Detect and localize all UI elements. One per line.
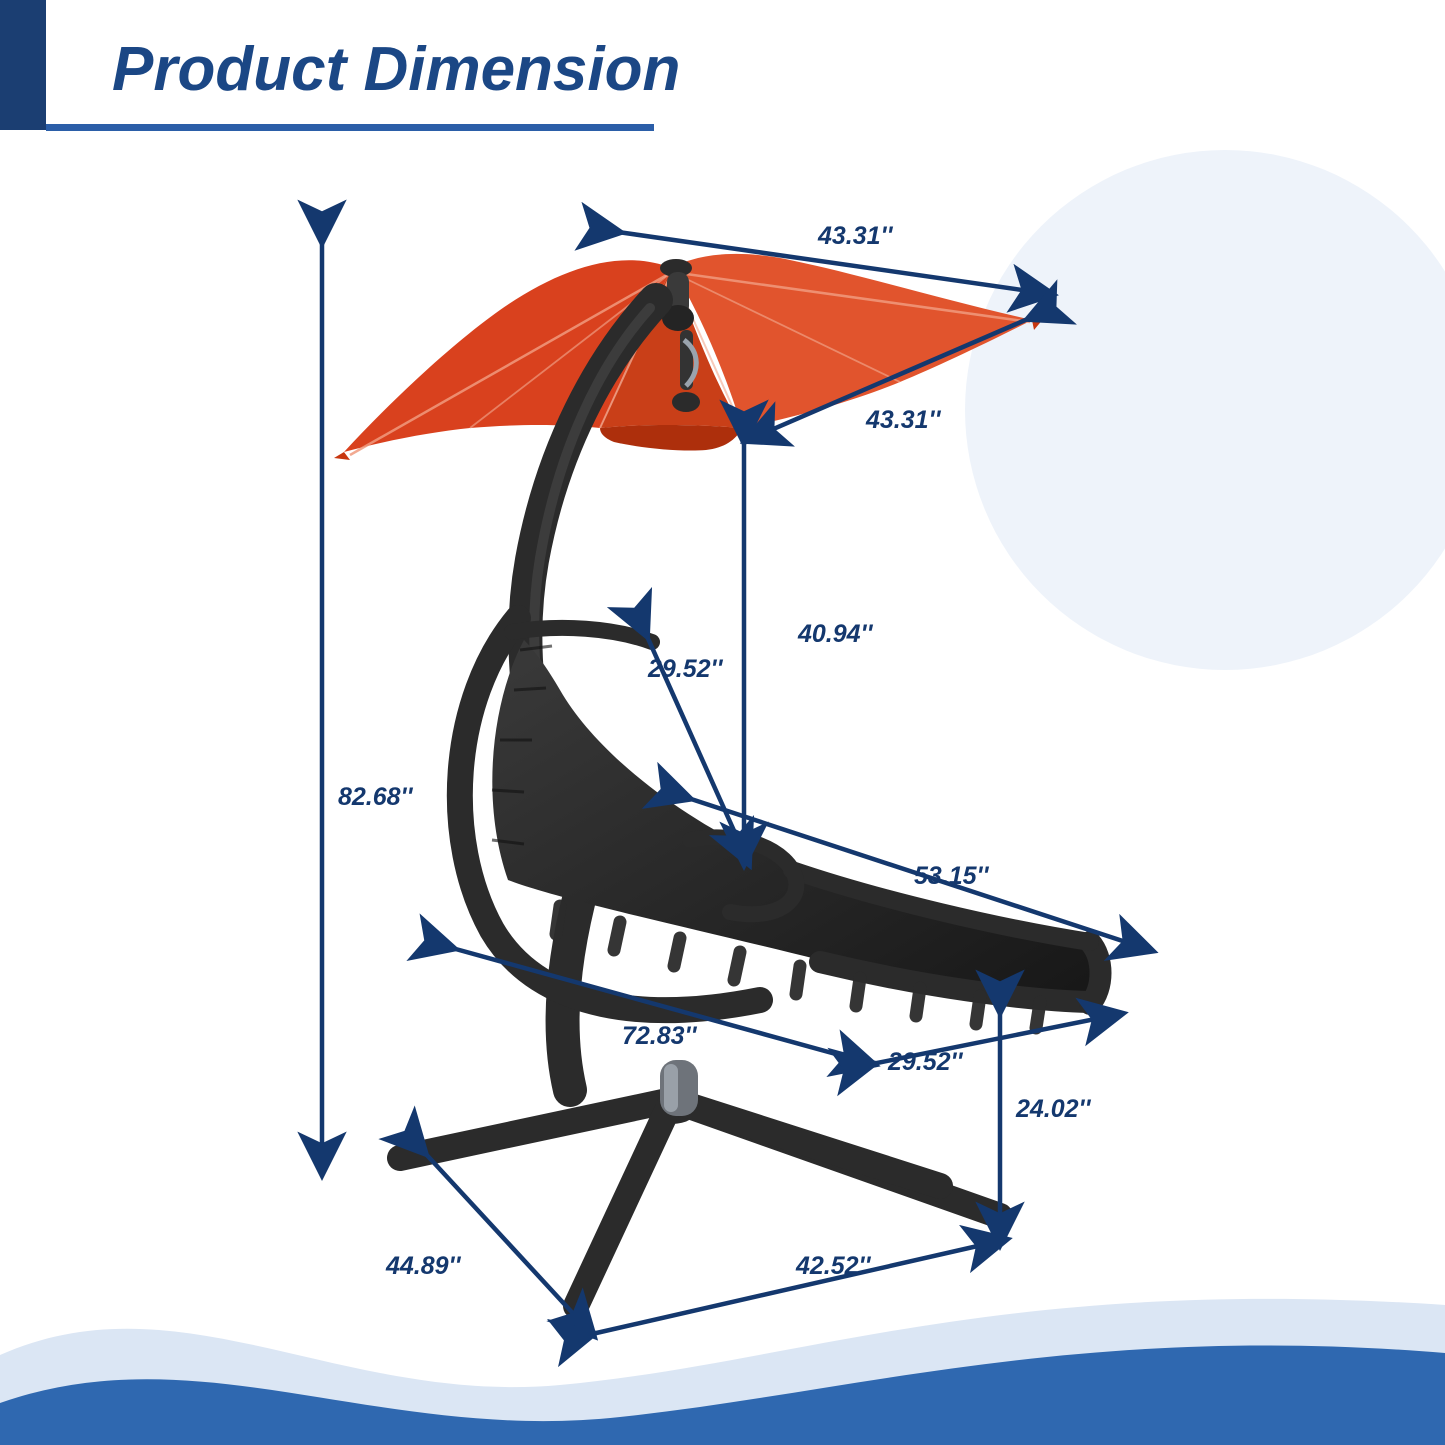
dim-label-overall-height: 82.68'' [338, 783, 412, 812]
dim-label-seat-height: 24.02'' [1016, 1095, 1090, 1124]
dim-label-seat-back-width: 29.52'' [648, 655, 722, 684]
dim-label-bed-length: 72.83'' [622, 1022, 696, 1051]
dim-label-canopy-height: 40.94'' [798, 620, 872, 649]
product-dimension-page: Product Dimension [0, 0, 1445, 1445]
dim-label-seat-length: 53.15'' [914, 862, 988, 891]
dim-label-canopy-depth: 43.31'' [866, 406, 940, 435]
product-illustration [330, 200, 1110, 1360]
dim-label-bed-width: 29.52'' [888, 1048, 962, 1077]
dim-label-base-width: 42.52'' [796, 1252, 870, 1281]
chair-frame [400, 300, 1101, 1306]
dim-label-base-depth: 44.89'' [386, 1252, 460, 1281]
dim-label-canopy-width-top: 43.31'' [818, 222, 892, 251]
